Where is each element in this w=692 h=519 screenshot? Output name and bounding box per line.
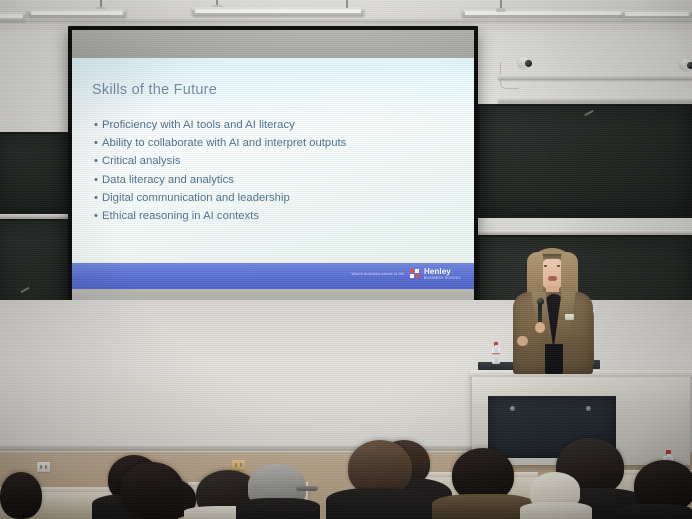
ceiling-soffit-rail [0,18,692,22]
list-item: •Proficiency with AI tools and AI litera… [94,116,460,134]
henley-logo: Henley BUSINESS SCHOOL [410,267,468,285]
chalk-mark [20,287,30,293]
light-plate [496,8,506,12]
presenter-name-badge [565,314,574,320]
bottle-label [492,353,500,359]
light-stem [346,0,348,8]
audience-shoulders [616,504,692,519]
outlet-slot [235,463,237,467]
list-item: •Digital communication and leadership [94,189,460,207]
light-tube [465,11,631,15]
screen-surface: Skills of the Future •Proficiency with A… [72,30,474,325]
presenter-eye [557,265,560,267]
outlet-slot [240,463,242,467]
henley-crest-icon [410,269,421,281]
henley-subtitle: BUSINESS SCHOOL [424,276,461,280]
bullet-text: Critical analysis [102,155,180,167]
audience-shoulders [520,502,592,519]
chalk-mark [584,110,594,116]
list-item: •Data literacy and analytics [94,171,460,189]
presenter-eye [544,265,547,267]
security-camera-icon [678,58,692,72]
bullet-text: Ability to collaborate with AI and inter… [102,137,346,149]
ceiling-light-fixture [462,9,634,18]
blackboard-right-upper [478,104,692,218]
lecture-hall-photo: Skills of the Future •Proficiency with A… [0,0,692,519]
ceiling-light-fixture [28,9,126,18]
presenter-hand [517,336,528,346]
list-item: •Critical analysis [94,152,460,170]
slide-title: Skills of the Future [92,82,217,98]
outlet-slot [40,465,42,469]
henley-wordmark: Henley [424,267,451,276]
slide-bullet-list: •Proficiency with AI tools and AI litera… [94,116,460,225]
cap-brim [296,486,318,491]
footer-tagline: Where business comes to life [351,272,404,276]
audience-head [0,472,42,519]
bullet-glyph: • [94,152,102,170]
bullet-text: Proficiency with AI tools and AI literac… [102,119,295,131]
list-item: •Ethical reasoning in AI contexts [94,207,460,225]
light-tube [195,9,361,13]
presenter-mouth [548,276,557,281]
wall-cable-rail [498,97,692,103]
panel-knob [586,406,591,411]
wall-outlet [37,462,50,472]
microphone-head-icon [537,298,544,305]
audience-shoulders [236,498,320,519]
bullet-glyph: • [94,171,102,189]
slide-footer-bar: Where business comes to life Henley BUSI… [72,263,474,289]
audience-shoulders [326,488,432,519]
wall-outlet [232,460,245,470]
crest-square [410,269,414,273]
bullet-text: Digital communication and leadership [102,192,290,204]
bullet-glyph: • [94,134,102,152]
audience-head [120,462,184,519]
light-tube [31,11,123,15]
crest-square [415,269,419,273]
bullet-text: Data literacy and analytics [102,174,234,186]
blackboard-left-upper [0,132,72,218]
light-tube [625,12,689,16]
presenter [505,248,601,383]
list-item: •Ability to collaborate with AI and inte… [94,134,460,152]
screen-top-band [72,30,474,58]
crest-square [410,274,414,278]
water-bottle [492,342,500,364]
projection-screen: Skills of the Future •Proficiency with A… [68,26,478,329]
projected-slide: Skills of the Future •Proficiency with A… [72,58,474,289]
bullet-glyph: • [94,116,102,134]
ceiling-light-fixture [192,7,364,16]
bullet-text: Ethical reasoning in AI contexts [102,210,259,222]
camera-mount [683,68,689,72]
crest-square [415,274,419,278]
panel-knob [510,406,515,411]
presenter-hand [535,322,545,333]
wall-cable-rail [498,75,692,80]
bullet-glyph: • [94,189,102,207]
camera-mount [521,66,527,70]
bullet-glyph: • [94,207,102,225]
outlet-slot [45,465,47,469]
